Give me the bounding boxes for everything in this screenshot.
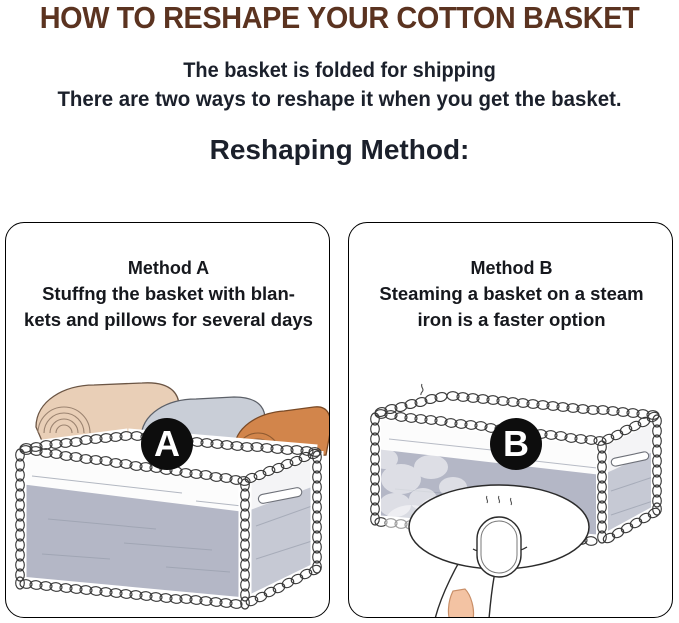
- method-badge-b: B: [490, 418, 542, 470]
- subtitle-block: The basket is folded for shipping There …: [0, 57, 679, 113]
- section-heading: Reshaping Method:: [0, 133, 679, 167]
- subtitle-line-1: The basket is folded for shipping: [17, 57, 662, 85]
- method-b-caption: Method B Steaming a basket on a steam ir…: [355, 255, 668, 333]
- method-b-desc-line-2: iron is a faster option: [355, 307, 668, 333]
- method-badge-a: A: [141, 418, 193, 470]
- method-a-desc-line-1: Stuffng the basket with blan-: [12, 281, 325, 307]
- method-a-desc-line-2: kets and pillows for several days: [12, 307, 325, 333]
- basket-with-rolled-blankets-illustration: [6, 351, 330, 618]
- basket-with-steam-iron-illustration: [349, 351, 673, 618]
- method-b-title: Method B: [355, 255, 668, 281]
- method-a-caption: Method A Stuffng the basket with blan- k…: [12, 255, 325, 333]
- method-b-desc-line-1: Steaming a basket on a steam: [355, 281, 668, 307]
- method-a-title: Method A: [12, 255, 325, 281]
- subtitle-line-2: There are two ways to reshape it when yo…: [17, 85, 662, 113]
- methods-container: Method A Stuffng the basket with blan- k…: [0, 222, 679, 622]
- page-title: HOW TO RESHAPE YOUR COTTON BASKET: [24, 0, 655, 36]
